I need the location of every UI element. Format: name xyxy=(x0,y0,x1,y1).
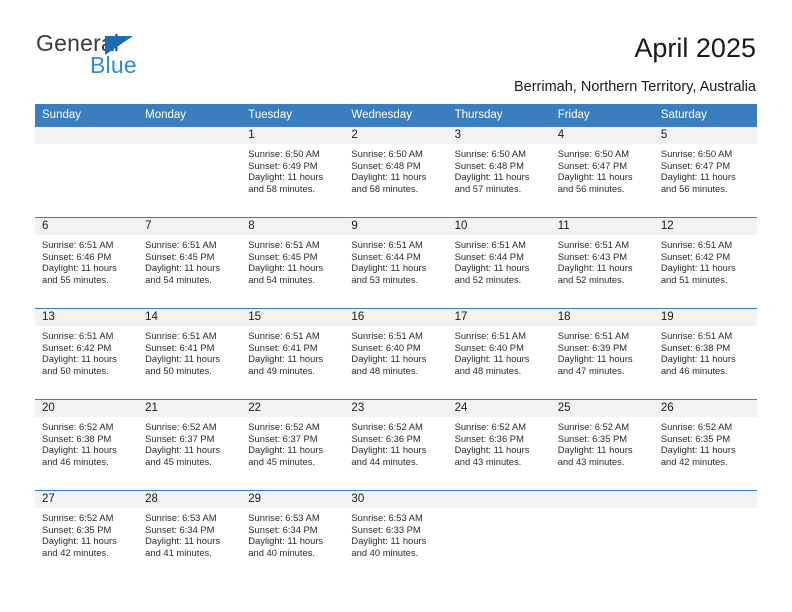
daylight-duration-line2: and 41 minutes. xyxy=(145,547,235,559)
page-subtitle-location: Berrimah, Northern Territory, Australia xyxy=(514,78,756,96)
daylight-duration-line1: Daylight: 11 hours xyxy=(145,262,235,274)
day-details: Sunrise: 6:52 AMSunset: 6:35 PMDaylight:… xyxy=(654,417,757,468)
calendar-day-cell[interactable]: 10Sunrise: 6:51 AMSunset: 6:44 PMDayligh… xyxy=(448,218,551,309)
calendar-empty-cell xyxy=(35,127,138,218)
sunrise-time: Sunrise: 6:52 AM xyxy=(661,421,751,433)
day-cell-content: 24Sunrise: 6:52 AMSunset: 6:36 PMDayligh… xyxy=(448,400,551,490)
calendar-day-cell[interactable]: 22Sunrise: 6:52 AMSunset: 6:37 PMDayligh… xyxy=(241,400,344,491)
calendar-day-cell[interactable]: 23Sunrise: 6:52 AMSunset: 6:36 PMDayligh… xyxy=(344,400,447,491)
day-cell-content: 19Sunrise: 6:51 AMSunset: 6:38 PMDayligh… xyxy=(654,309,757,399)
calendar-day-cell[interactable]: 2Sunrise: 6:50 AMSunset: 6:48 PMDaylight… xyxy=(344,127,447,218)
daylight-duration-line2: and 48 minutes. xyxy=(455,365,545,377)
daylight-duration-line1: Daylight: 11 hours xyxy=(351,171,441,183)
day-details: Sunrise: 6:52 AMSunset: 6:36 PMDaylight:… xyxy=(344,417,447,468)
sunset-time: Sunset: 6:44 PM xyxy=(455,251,545,263)
day-number: 7 xyxy=(138,218,241,235)
day-details: Sunrise: 6:51 AMSunset: 6:42 PMDaylight:… xyxy=(654,235,757,286)
day-number: 24 xyxy=(448,400,551,417)
daylight-duration-line1: Daylight: 11 hours xyxy=(248,444,338,456)
day-cell-content: 3Sunrise: 6:50 AMSunset: 6:48 PMDaylight… xyxy=(448,127,551,217)
weekday-header-saturday: Saturday xyxy=(654,104,757,127)
day-details: Sunrise: 6:51 AMSunset: 6:42 PMDaylight:… xyxy=(35,326,138,377)
daylight-duration-line1: Daylight: 11 hours xyxy=(248,171,338,183)
daylight-duration-line1: Daylight: 11 hours xyxy=(42,353,132,365)
weekday-header-sunday: Sunday xyxy=(35,104,138,127)
sunset-time: Sunset: 6:36 PM xyxy=(351,433,441,445)
day-cell-content: 12Sunrise: 6:51 AMSunset: 6:42 PMDayligh… xyxy=(654,218,757,308)
sunset-time: Sunset: 6:42 PM xyxy=(661,251,751,263)
day-number: 29 xyxy=(241,491,344,508)
sunset-time: Sunset: 6:49 PM xyxy=(248,160,338,172)
calendar-day-cell[interactable]: 18Sunrise: 6:51 AMSunset: 6:39 PMDayligh… xyxy=(551,309,654,400)
daylight-duration-line2: and 51 minutes. xyxy=(661,274,751,286)
calendar-week-row: 13Sunrise: 6:51 AMSunset: 6:42 PMDayligh… xyxy=(35,309,757,400)
day-cell-content: 18Sunrise: 6:51 AMSunset: 6:39 PMDayligh… xyxy=(551,309,654,399)
day-number: 30 xyxy=(344,491,447,508)
calendar-day-cell[interactable]: 30Sunrise: 6:53 AMSunset: 6:33 PMDayligh… xyxy=(344,491,447,582)
day-details: Sunrise: 6:53 AMSunset: 6:33 PMDaylight:… xyxy=(344,508,447,559)
day-details: Sunrise: 6:51 AMSunset: 6:40 PMDaylight:… xyxy=(344,326,447,377)
day-details: Sunrise: 6:51 AMSunset: 6:44 PMDaylight:… xyxy=(448,235,551,286)
daylight-duration-line1: Daylight: 11 hours xyxy=(558,353,648,365)
calendar-day-cell[interactable]: 9Sunrise: 6:51 AMSunset: 6:44 PMDaylight… xyxy=(344,218,447,309)
calendar-empty-cell xyxy=(551,491,654,582)
day-number: 23 xyxy=(344,400,447,417)
daylight-duration-line1: Daylight: 11 hours xyxy=(42,535,132,547)
sunset-time: Sunset: 6:45 PM xyxy=(145,251,235,263)
day-number: 13 xyxy=(35,309,138,326)
sunrise-time: Sunrise: 6:50 AM xyxy=(558,148,648,160)
day-details: Sunrise: 6:51 AMSunset: 6:43 PMDaylight:… xyxy=(551,235,654,286)
day-cell-content: 23Sunrise: 6:52 AMSunset: 6:36 PMDayligh… xyxy=(344,400,447,490)
daylight-duration-line2: and 54 minutes. xyxy=(248,274,338,286)
daylight-duration-line2: and 46 minutes. xyxy=(661,365,751,377)
sunrise-time: Sunrise: 6:51 AM xyxy=(661,239,751,251)
sunset-time: Sunset: 6:35 PM xyxy=(558,433,648,445)
sunset-time: Sunset: 6:36 PM xyxy=(455,433,545,445)
daylight-duration-line1: Daylight: 11 hours xyxy=(455,171,545,183)
sunset-time: Sunset: 6:48 PM xyxy=(351,160,441,172)
sunset-time: Sunset: 6:34 PM xyxy=(248,524,338,536)
calendar-day-cell[interactable]: 16Sunrise: 6:51 AMSunset: 6:40 PMDayligh… xyxy=(344,309,447,400)
daylight-duration-line2: and 40 minutes. xyxy=(351,547,441,559)
day-details: Sunrise: 6:51 AMSunset: 6:45 PMDaylight:… xyxy=(138,235,241,286)
day-details: Sunrise: 6:53 AMSunset: 6:34 PMDaylight:… xyxy=(138,508,241,559)
weekday-header-thursday: Thursday xyxy=(448,104,551,127)
day-number xyxy=(35,127,138,144)
day-number: 26 xyxy=(654,400,757,417)
daylight-duration-line1: Daylight: 11 hours xyxy=(558,171,648,183)
day-details: Sunrise: 6:50 AMSunset: 6:47 PMDaylight:… xyxy=(551,144,654,195)
sunset-time: Sunset: 6:41 PM xyxy=(145,342,235,354)
calendar-empty-cell xyxy=(138,127,241,218)
daylight-duration-line2: and 48 minutes. xyxy=(351,365,441,377)
daylight-duration-line2: and 55 minutes. xyxy=(42,274,132,286)
day-cell-content: 9Sunrise: 6:51 AMSunset: 6:44 PMDaylight… xyxy=(344,218,447,308)
day-cell-content: 6Sunrise: 6:51 AMSunset: 6:46 PMDaylight… xyxy=(35,218,138,308)
calendar-page: General Blue April 2025 Berrimah, Northe… xyxy=(0,0,792,612)
sunrise-time: Sunrise: 6:52 AM xyxy=(455,421,545,433)
sunrise-time: Sunrise: 6:52 AM xyxy=(42,512,132,524)
day-cell-content: 28Sunrise: 6:53 AMSunset: 6:34 PMDayligh… xyxy=(138,491,241,581)
daylight-duration-line1: Daylight: 11 hours xyxy=(248,353,338,365)
daylight-duration-line1: Daylight: 11 hours xyxy=(145,535,235,547)
calendar-day-cell[interactable]: 21Sunrise: 6:52 AMSunset: 6:37 PMDayligh… xyxy=(138,400,241,491)
day-number xyxy=(448,491,551,508)
calendar-day-cell[interactable]: 6Sunrise: 6:51 AMSunset: 6:46 PMDaylight… xyxy=(35,218,138,309)
calendar-empty-cell xyxy=(654,491,757,582)
daylight-duration-line2: and 53 minutes. xyxy=(351,274,441,286)
day-number: 12 xyxy=(654,218,757,235)
day-details: Sunrise: 6:51 AMSunset: 6:40 PMDaylight:… xyxy=(448,326,551,377)
sunrise-time: Sunrise: 6:52 AM xyxy=(145,421,235,433)
calendar-empty-cell xyxy=(448,491,551,582)
daylight-duration-line1: Daylight: 11 hours xyxy=(145,444,235,456)
day-number: 2 xyxy=(344,127,447,144)
day-cell-content: 10Sunrise: 6:51 AMSunset: 6:44 PMDayligh… xyxy=(448,218,551,308)
day-cell-content: 25Sunrise: 6:52 AMSunset: 6:35 PMDayligh… xyxy=(551,400,654,490)
sunset-time: Sunset: 6:37 PM xyxy=(248,433,338,445)
day-cell-content: 5Sunrise: 6:50 AMSunset: 6:47 PMDaylight… xyxy=(654,127,757,217)
daylight-duration-line1: Daylight: 11 hours xyxy=(145,353,235,365)
calendar-day-cell[interactable]: 26Sunrise: 6:52 AMSunset: 6:35 PMDayligh… xyxy=(654,400,757,491)
day-cell-content: 8Sunrise: 6:51 AMSunset: 6:45 PMDaylight… xyxy=(241,218,344,308)
sunrise-time: Sunrise: 6:51 AM xyxy=(145,239,235,251)
calendar-day-cell[interactable]: 7Sunrise: 6:51 AMSunset: 6:45 PMDaylight… xyxy=(138,218,241,309)
daylight-duration-line2: and 40 minutes. xyxy=(248,547,338,559)
sunset-time: Sunset: 6:48 PM xyxy=(455,160,545,172)
day-details: Sunrise: 6:51 AMSunset: 6:41 PMDaylight:… xyxy=(241,326,344,377)
sunset-time: Sunset: 6:47 PM xyxy=(661,160,751,172)
daylight-duration-line1: Daylight: 11 hours xyxy=(661,444,751,456)
daylight-duration-line2: and 52 minutes. xyxy=(455,274,545,286)
calendar-day-cell[interactable]: 12Sunrise: 6:51 AMSunset: 6:42 PMDayligh… xyxy=(654,218,757,309)
day-number xyxy=(654,491,757,508)
sunrise-time: Sunrise: 6:52 AM xyxy=(42,421,132,433)
daylight-duration-line2: and 42 minutes. xyxy=(661,456,751,468)
sunrise-time: Sunrise: 6:50 AM xyxy=(455,148,545,160)
weekday-header-wednesday: Wednesday xyxy=(344,104,447,127)
sunset-time: Sunset: 6:40 PM xyxy=(351,342,441,354)
calendar-body: 1Sunrise: 6:50 AMSunset: 6:49 PMDaylight… xyxy=(35,127,757,581)
day-cell-content xyxy=(654,491,757,581)
day-cell-content: 30Sunrise: 6:53 AMSunset: 6:33 PMDayligh… xyxy=(344,491,447,581)
day-number: 21 xyxy=(138,400,241,417)
sunrise-time: Sunrise: 6:51 AM xyxy=(455,330,545,342)
daylight-duration-line1: Daylight: 11 hours xyxy=(558,262,648,274)
day-cell-content: 16Sunrise: 6:51 AMSunset: 6:40 PMDayligh… xyxy=(344,309,447,399)
sunset-time: Sunset: 6:38 PM xyxy=(42,433,132,445)
day-number: 11 xyxy=(551,218,654,235)
day-number: 9 xyxy=(344,218,447,235)
day-details: Sunrise: 6:50 AMSunset: 6:48 PMDaylight:… xyxy=(448,144,551,195)
daylight-duration-line2: and 52 minutes. xyxy=(558,274,648,286)
daylight-duration-line1: Daylight: 11 hours xyxy=(455,353,545,365)
sunset-time: Sunset: 6:43 PM xyxy=(558,251,648,263)
day-number: 15 xyxy=(241,309,344,326)
calendar-day-cell[interactable]: 28Sunrise: 6:53 AMSunset: 6:34 PMDayligh… xyxy=(138,491,241,582)
day-details: Sunrise: 6:50 AMSunset: 6:49 PMDaylight:… xyxy=(241,144,344,195)
day-cell-content: 7Sunrise: 6:51 AMSunset: 6:45 PMDaylight… xyxy=(138,218,241,308)
sunrise-time: Sunrise: 6:51 AM xyxy=(455,239,545,251)
daylight-duration-line2: and 56 minutes. xyxy=(558,183,648,195)
day-cell-content: 29Sunrise: 6:53 AMSunset: 6:34 PMDayligh… xyxy=(241,491,344,581)
daylight-duration-line1: Daylight: 11 hours xyxy=(455,262,545,274)
calendar-day-cell[interactable]: 19Sunrise: 6:51 AMSunset: 6:38 PMDayligh… xyxy=(654,309,757,400)
daylight-duration-line1: Daylight: 11 hours xyxy=(661,353,751,365)
day-details: Sunrise: 6:52 AMSunset: 6:35 PMDaylight:… xyxy=(35,508,138,559)
sunrise-time: Sunrise: 6:52 AM xyxy=(248,421,338,433)
calendar-day-cell[interactable]: 20Sunrise: 6:52 AMSunset: 6:38 PMDayligh… xyxy=(35,400,138,491)
daylight-duration-line1: Daylight: 11 hours xyxy=(661,262,751,274)
daylight-duration-line2: and 43 minutes. xyxy=(558,456,648,468)
day-details: Sunrise: 6:50 AMSunset: 6:48 PMDaylight:… xyxy=(344,144,447,195)
calendar-week-row: 27Sunrise: 6:52 AMSunset: 6:35 PMDayligh… xyxy=(35,491,757,582)
sunrise-time: Sunrise: 6:50 AM xyxy=(661,148,751,160)
sunset-time: Sunset: 6:46 PM xyxy=(42,251,132,263)
day-number: 22 xyxy=(241,400,344,417)
day-details: Sunrise: 6:51 AMSunset: 6:41 PMDaylight:… xyxy=(138,326,241,377)
day-cell-content: 2Sunrise: 6:50 AMSunset: 6:48 PMDaylight… xyxy=(344,127,447,217)
day-cell-content: 17Sunrise: 6:51 AMSunset: 6:40 PMDayligh… xyxy=(448,309,551,399)
day-details: Sunrise: 6:51 AMSunset: 6:38 PMDaylight:… xyxy=(654,326,757,377)
calendar-week-row: 6Sunrise: 6:51 AMSunset: 6:46 PMDaylight… xyxy=(35,218,757,309)
daylight-duration-line2: and 58 minutes. xyxy=(248,183,338,195)
general-blue-logo[interactable]: General Blue xyxy=(36,30,216,82)
sunrise-time: Sunrise: 6:51 AM xyxy=(248,330,338,342)
sunset-time: Sunset: 6:34 PM xyxy=(145,524,235,536)
day-details: Sunrise: 6:51 AMSunset: 6:46 PMDaylight:… xyxy=(35,235,138,286)
sunrise-time: Sunrise: 6:52 AM xyxy=(351,421,441,433)
sunrise-time: Sunrise: 6:50 AM xyxy=(351,148,441,160)
day-details: Sunrise: 6:52 AMSunset: 6:38 PMDaylight:… xyxy=(35,417,138,468)
daylight-duration-line1: Daylight: 11 hours xyxy=(351,353,441,365)
day-number: 5 xyxy=(654,127,757,144)
day-number: 8 xyxy=(241,218,344,235)
calendar-day-cell[interactable]: 3Sunrise: 6:50 AMSunset: 6:48 PMDaylight… xyxy=(448,127,551,218)
day-number: 14 xyxy=(138,309,241,326)
calendar-day-cell[interactable]: 15Sunrise: 6:51 AMSunset: 6:41 PMDayligh… xyxy=(241,309,344,400)
calendar-week-row: 1Sunrise: 6:50 AMSunset: 6:49 PMDaylight… xyxy=(35,127,757,218)
calendar-day-cell[interactable]: 24Sunrise: 6:52 AMSunset: 6:36 PMDayligh… xyxy=(448,400,551,491)
sunrise-time: Sunrise: 6:51 AM xyxy=(558,239,648,251)
day-cell-content xyxy=(551,491,654,581)
calendar-day-cell[interactable]: 14Sunrise: 6:51 AMSunset: 6:41 PMDayligh… xyxy=(138,309,241,400)
calendar-day-cell[interactable]: 4Sunrise: 6:50 AMSunset: 6:47 PMDaylight… xyxy=(551,127,654,218)
page-title: April 2025 xyxy=(634,32,756,64)
day-number: 25 xyxy=(551,400,654,417)
day-cell-content: 21Sunrise: 6:52 AMSunset: 6:37 PMDayligh… xyxy=(138,400,241,490)
day-number xyxy=(138,127,241,144)
sunset-time: Sunset: 6:39 PM xyxy=(558,342,648,354)
day-details: Sunrise: 6:51 AMSunset: 6:45 PMDaylight:… xyxy=(241,235,344,286)
daylight-duration-line2: and 42 minutes. xyxy=(42,547,132,559)
sunrise-time: Sunrise: 6:53 AM xyxy=(145,512,235,524)
daylight-duration-line2: and 50 minutes. xyxy=(145,365,235,377)
day-cell-content xyxy=(35,127,138,217)
day-number: 28 xyxy=(138,491,241,508)
daylight-duration-line2: and 43 minutes. xyxy=(455,456,545,468)
sunrise-time: Sunrise: 6:52 AM xyxy=(558,421,648,433)
daylight-duration-line2: and 47 minutes. xyxy=(558,365,648,377)
day-number xyxy=(551,491,654,508)
day-details: Sunrise: 6:52 AMSunset: 6:37 PMDaylight:… xyxy=(241,417,344,468)
day-number: 20 xyxy=(35,400,138,417)
daylight-duration-line1: Daylight: 11 hours xyxy=(455,444,545,456)
sunset-time: Sunset: 6:41 PM xyxy=(248,342,338,354)
daylight-duration-line2: and 54 minutes. xyxy=(145,274,235,286)
daylight-duration-line2: and 45 minutes. xyxy=(248,456,338,468)
sunrise-time: Sunrise: 6:51 AM xyxy=(145,330,235,342)
daylight-duration-line1: Daylight: 11 hours xyxy=(661,171,751,183)
sunrise-time: Sunrise: 6:51 AM xyxy=(248,239,338,251)
sunset-time: Sunset: 6:35 PM xyxy=(661,433,751,445)
sunset-time: Sunset: 6:45 PM xyxy=(248,251,338,263)
sunrise-sunset-calendar-table: Sunday Monday Tuesday Wednesday Thursday… xyxy=(35,104,757,581)
day-details: Sunrise: 6:52 AMSunset: 6:37 PMDaylight:… xyxy=(138,417,241,468)
daylight-duration-line1: Daylight: 11 hours xyxy=(351,444,441,456)
day-number: 18 xyxy=(551,309,654,326)
sunset-time: Sunset: 6:37 PM xyxy=(145,433,235,445)
day-cell-content: 1Sunrise: 6:50 AMSunset: 6:49 PMDaylight… xyxy=(241,127,344,217)
sunrise-time: Sunrise: 6:51 AM xyxy=(558,330,648,342)
sunrise-time: Sunrise: 6:53 AM xyxy=(248,512,338,524)
day-cell-content xyxy=(448,491,551,581)
daylight-duration-line2: and 57 minutes. xyxy=(455,183,545,195)
daylight-duration-line2: and 50 minutes. xyxy=(42,365,132,377)
day-cell-content: 4Sunrise: 6:50 AMSunset: 6:47 PMDaylight… xyxy=(551,127,654,217)
day-cell-content: 26Sunrise: 6:52 AMSunset: 6:35 PMDayligh… xyxy=(654,400,757,490)
day-details: Sunrise: 6:51 AMSunset: 6:44 PMDaylight:… xyxy=(344,235,447,286)
calendar-day-cell[interactable]: 13Sunrise: 6:51 AMSunset: 6:42 PMDayligh… xyxy=(35,309,138,400)
day-cell-content: 20Sunrise: 6:52 AMSunset: 6:38 PMDayligh… xyxy=(35,400,138,490)
day-number: 10 xyxy=(448,218,551,235)
page-header: General Blue April 2025 Berrimah, Northe… xyxy=(0,0,792,104)
daylight-duration-line1: Daylight: 11 hours xyxy=(248,535,338,547)
sunset-time: Sunset: 6:38 PM xyxy=(661,342,751,354)
sunset-time: Sunset: 6:35 PM xyxy=(42,524,132,536)
calendar-day-cell[interactable]: 25Sunrise: 6:52 AMSunset: 6:35 PMDayligh… xyxy=(551,400,654,491)
day-number: 1 xyxy=(241,127,344,144)
day-cell-content xyxy=(138,127,241,217)
daylight-duration-line1: Daylight: 11 hours xyxy=(248,262,338,274)
daylight-duration-line2: and 44 minutes. xyxy=(351,456,441,468)
sunrise-time: Sunrise: 6:51 AM xyxy=(42,239,132,251)
daylight-duration-line1: Daylight: 11 hours xyxy=(42,262,132,274)
sunset-time: Sunset: 6:33 PM xyxy=(351,524,441,536)
calendar-day-cell[interactable]: 1Sunrise: 6:50 AMSunset: 6:49 PMDaylight… xyxy=(241,127,344,218)
sunrise-time: Sunrise: 6:50 AM xyxy=(248,148,338,160)
daylight-duration-line2: and 49 minutes. xyxy=(248,365,338,377)
daylight-duration-line1: Daylight: 11 hours xyxy=(558,444,648,456)
sunrise-time: Sunrise: 6:51 AM xyxy=(42,330,132,342)
day-cell-content: 15Sunrise: 6:51 AMSunset: 6:41 PMDayligh… xyxy=(241,309,344,399)
calendar-day-cell[interactable]: 8Sunrise: 6:51 AMSunset: 6:45 PMDaylight… xyxy=(241,218,344,309)
day-number: 3 xyxy=(448,127,551,144)
daylight-duration-line1: Daylight: 11 hours xyxy=(42,444,132,456)
daylight-duration-line2: and 46 minutes. xyxy=(42,456,132,468)
sunrise-time: Sunrise: 6:53 AM xyxy=(351,512,441,524)
day-details: Sunrise: 6:53 AMSunset: 6:34 PMDaylight:… xyxy=(241,508,344,559)
daylight-duration-line2: and 45 minutes. xyxy=(145,456,235,468)
calendar-day-cell[interactable]: 11Sunrise: 6:51 AMSunset: 6:43 PMDayligh… xyxy=(551,218,654,309)
calendar-day-cell[interactable]: 27Sunrise: 6:52 AMSunset: 6:35 PMDayligh… xyxy=(35,491,138,582)
day-number: 6 xyxy=(35,218,138,235)
weekday-header-friday: Friday xyxy=(551,104,654,127)
calendar-week-row: 20Sunrise: 6:52 AMSunset: 6:38 PMDayligh… xyxy=(35,400,757,491)
day-details: Sunrise: 6:50 AMSunset: 6:47 PMDaylight:… xyxy=(654,144,757,195)
day-cell-content: 22Sunrise: 6:52 AMSunset: 6:37 PMDayligh… xyxy=(241,400,344,490)
sunset-time: Sunset: 6:42 PM xyxy=(42,342,132,354)
daylight-duration-line2: and 56 minutes. xyxy=(661,183,751,195)
day-details: Sunrise: 6:51 AMSunset: 6:39 PMDaylight:… xyxy=(551,326,654,377)
weekday-header-tuesday: Tuesday xyxy=(241,104,344,127)
calendar-day-cell[interactable]: 5Sunrise: 6:50 AMSunset: 6:47 PMDaylight… xyxy=(654,127,757,218)
day-number: 4 xyxy=(551,127,654,144)
calendar-day-cell[interactable]: 17Sunrise: 6:51 AMSunset: 6:40 PMDayligh… xyxy=(448,309,551,400)
day-number: 16 xyxy=(344,309,447,326)
sunset-time: Sunset: 6:40 PM xyxy=(455,342,545,354)
sunrise-time: Sunrise: 6:51 AM xyxy=(661,330,751,342)
logo-text-blue: Blue xyxy=(90,52,137,78)
calendar-day-cell[interactable]: 29Sunrise: 6:53 AMSunset: 6:34 PMDayligh… xyxy=(241,491,344,582)
day-number: 17 xyxy=(448,309,551,326)
day-cell-content: 27Sunrise: 6:52 AMSunset: 6:35 PMDayligh… xyxy=(35,491,138,581)
sunset-time: Sunset: 6:47 PM xyxy=(558,160,648,172)
calendar-header-row: Sunday Monday Tuesday Wednesday Thursday… xyxy=(35,104,757,127)
day-number: 27 xyxy=(35,491,138,508)
day-cell-content: 11Sunrise: 6:51 AMSunset: 6:43 PMDayligh… xyxy=(551,218,654,308)
day-details: Sunrise: 6:52 AMSunset: 6:35 PMDaylight:… xyxy=(551,417,654,468)
day-details: Sunrise: 6:52 AMSunset: 6:36 PMDaylight:… xyxy=(448,417,551,468)
day-number: 19 xyxy=(654,309,757,326)
day-cell-content: 14Sunrise: 6:51 AMSunset: 6:41 PMDayligh… xyxy=(138,309,241,399)
weekday-header-monday: Monday xyxy=(138,104,241,127)
sunrise-time: Sunrise: 6:51 AM xyxy=(351,330,441,342)
daylight-duration-line1: Daylight: 11 hours xyxy=(351,535,441,547)
daylight-duration-line1: Daylight: 11 hours xyxy=(351,262,441,274)
daylight-duration-line2: and 58 minutes. xyxy=(351,183,441,195)
sunrise-time: Sunrise: 6:51 AM xyxy=(351,239,441,251)
sunset-time: Sunset: 6:44 PM xyxy=(351,251,441,263)
day-cell-content: 13Sunrise: 6:51 AMSunset: 6:42 PMDayligh… xyxy=(35,309,138,399)
